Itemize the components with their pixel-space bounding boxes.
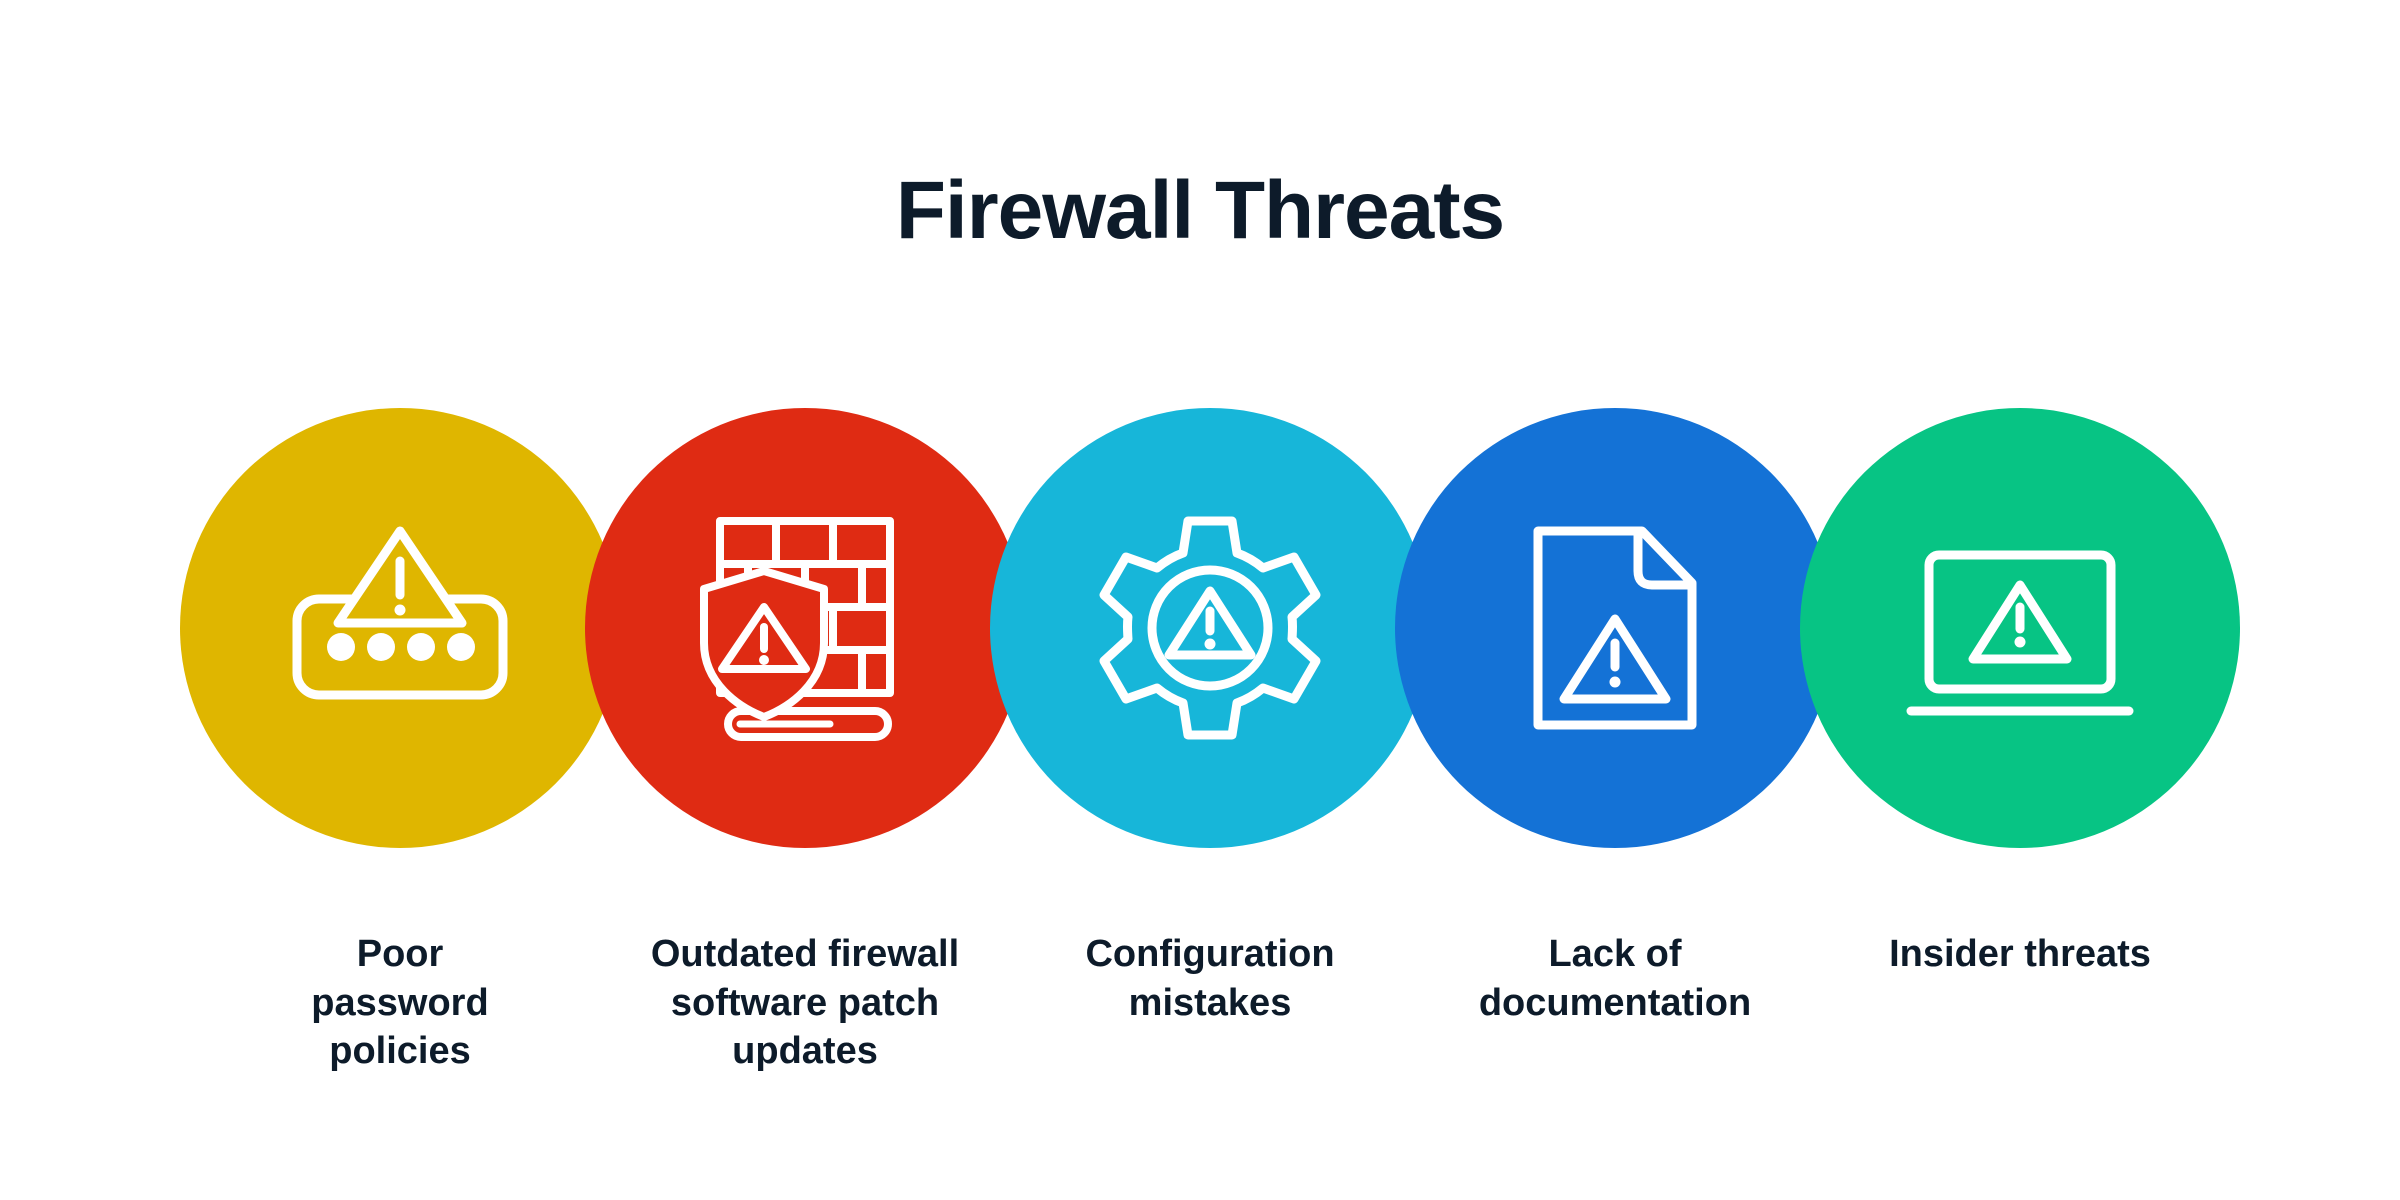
label-line: Insider threats: [1800, 930, 2240, 979]
label-line: documentation: [1395, 979, 1835, 1028]
threat-node-insider-threats: [1800, 408, 2240, 848]
page-title: Firewall Threats: [0, 168, 2400, 254]
label-row: Poor password policies Outdated firewall…: [180, 930, 2240, 1076]
threat-label-configuration-mistakes: Configuration mistakes: [990, 930, 1430, 1027]
label-line: software patch: [585, 979, 1025, 1028]
label-line: updates: [585, 1027, 1025, 1076]
threat-label-insider-threats: Insider threats: [1800, 930, 2240, 979]
label-line: Configuration: [990, 930, 1430, 979]
document-warning-icon: [1490, 503, 1740, 753]
threat-node-outdated-firewall-software: [585, 408, 1025, 848]
threat-label-lack-of-documentation: Lack of documentation: [1395, 930, 1835, 1027]
threat-node-configuration-mistakes: [990, 408, 1430, 848]
label-line: Outdated firewall: [585, 930, 1025, 979]
label-line: Lack of: [1395, 930, 1835, 979]
infographic-canvas: Firewall Threats: [0, 0, 2400, 1200]
gear-warning-icon: [1085, 503, 1335, 753]
password-field-warning-icon: [275, 503, 525, 753]
label-line: policies: [180, 1027, 620, 1076]
label-line: password: [180, 979, 620, 1028]
laptop-warning-icon: [1895, 503, 2145, 753]
threat-node-lack-of-documentation: [1395, 408, 1835, 848]
threat-label-poor-password-policies: Poor password policies: [180, 930, 620, 1076]
brick-wall-shield-warning-icon: [680, 503, 930, 753]
label-line: mistakes: [990, 979, 1430, 1028]
icon-circle-row: [180, 378, 2240, 878]
threat-label-outdated-firewall-software: Outdated firewall software patch updates: [585, 930, 1025, 1076]
threat-node-poor-password-policies: [180, 408, 620, 848]
label-line: Poor: [180, 930, 620, 979]
